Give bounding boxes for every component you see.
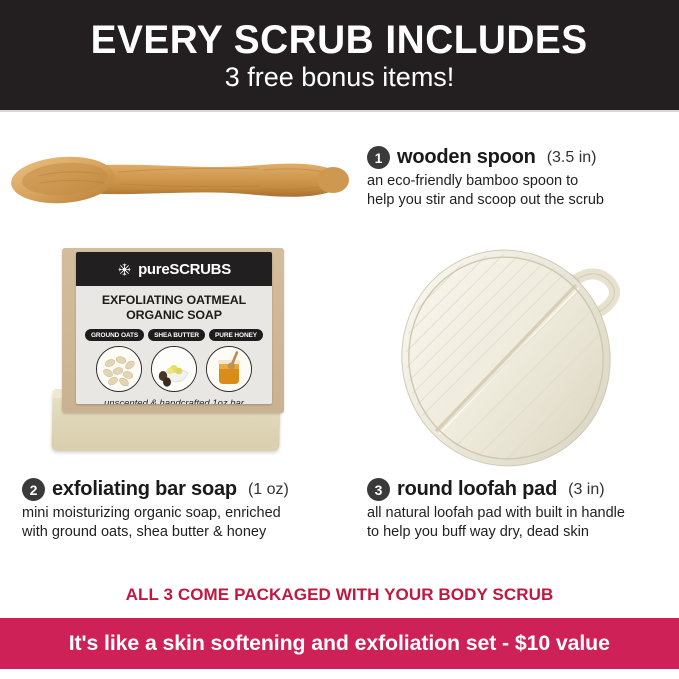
- item-2-qty: (1 oz): [248, 481, 289, 499]
- item-1-title: wooden spoon: [397, 146, 536, 169]
- item-1-qty: (3.5 in): [547, 149, 597, 167]
- item-1-number-badge: 1: [367, 146, 390, 169]
- ingredient-pill-honey: PURE HONEY: [209, 329, 263, 341]
- header-divider: [0, 110, 679, 112]
- item-3-desc-line2: to help you buff way dry, dead skin: [367, 524, 589, 540]
- item-2-desc-line2: with ground oats, shea butter & honey: [22, 524, 266, 540]
- soap-label: pureSCRUBS EXFOLIATING OATMEAL ORGANIC S…: [76, 252, 272, 404]
- item-1-text: 1 wooden spoon (3.5 in) an eco-friendly …: [367, 146, 677, 210]
- soap-package-image: pureSCRUBS EXFOLIATING OATMEAL ORGANIC S…: [52, 243, 297, 458]
- ingredient-photos: [76, 346, 272, 392]
- header-banner: EVERY SCRUB INCLUDES 3 free bonus items!: [0, 0, 679, 110]
- soap-label-footer: unscented & handcrafted 1oz bar: [76, 398, 272, 404]
- ingredient-pill-shea: SHEA BUTTER: [148, 329, 205, 341]
- wooden-spoon-image: [8, 140, 353, 230]
- item-1-description: an eco-friendly bamboo spoon to help you…: [367, 172, 677, 210]
- item-2-number-badge: 2: [22, 478, 45, 501]
- loofah-pad-image: [398, 240, 653, 472]
- wooden-spoon-icon: [8, 140, 353, 230]
- infographic-page: EVERY SCRUB INCLUDES 3 free bonus items!: [0, 0, 679, 679]
- item-2-heading: 2 exfoliating bar soap (1 oz): [22, 478, 342, 501]
- value-banner-text: It's like a skin softening and exfoliati…: [69, 631, 610, 656]
- ingredient-pills: GROUND OATS SHEA BUTTER PURE HONEY: [76, 329, 272, 341]
- item-3-title: round loofah pad: [397, 478, 557, 501]
- item-3-heading: 3 round loofah pad (3 in): [367, 478, 679, 501]
- item-3-number-badge: 3: [367, 478, 390, 501]
- item-2-text: 2 exfoliating bar soap (1 oz) mini moist…: [22, 478, 342, 542]
- ingredient-pill-oats: GROUND OATS: [85, 329, 144, 341]
- snowflake-logo-icon: [117, 262, 132, 277]
- item-1-desc-line2: help you stir and scoop out the scrub: [367, 192, 604, 208]
- loofah-pad-icon: [398, 240, 653, 472]
- soap-product-name: EXFOLIATING OATMEAL ORGANIC SOAP: [76, 286, 272, 322]
- page-subtitle: 3 free bonus items!: [225, 64, 455, 91]
- item-2-title: exfoliating bar soap: [52, 478, 237, 501]
- soap-product-line2: ORGANIC SOAP: [126, 308, 222, 322]
- item-2-description: mini moisturizing organic soap, enriched…: [22, 504, 342, 542]
- footer-tagline: ALL 3 COME PACKAGED WITH YOUR BODY SCRUB: [0, 585, 679, 605]
- value-banner: It's like a skin softening and exfoliati…: [0, 618, 679, 669]
- item-1-desc-line1: an eco-friendly bamboo spoon to: [367, 173, 578, 189]
- brand-name: pureSCRUBS: [138, 261, 231, 278]
- item-3-description: all natural loofah pad with built in han…: [367, 504, 679, 542]
- honey-photo-icon: [206, 346, 252, 392]
- soap-product-line1: EXFOLIATING OATMEAL: [102, 293, 246, 307]
- item-2-desc-line1: mini moisturizing organic soap, enriched: [22, 505, 281, 521]
- oats-photo-icon: [96, 346, 142, 392]
- shea-butter-photo-icon: [151, 346, 197, 392]
- item-3-text: 3 round loofah pad (3 in) all natural lo…: [367, 478, 679, 542]
- item-1-heading: 1 wooden spoon (3.5 in): [367, 146, 677, 169]
- page-title: EVERY SCRUB INCLUDES: [91, 20, 588, 60]
- item-3-desc-line1: all natural loofah pad with built in han…: [367, 505, 625, 521]
- soap-label-brand-bar: pureSCRUBS: [76, 252, 272, 286]
- item-3-qty: (3 in): [568, 481, 604, 499]
